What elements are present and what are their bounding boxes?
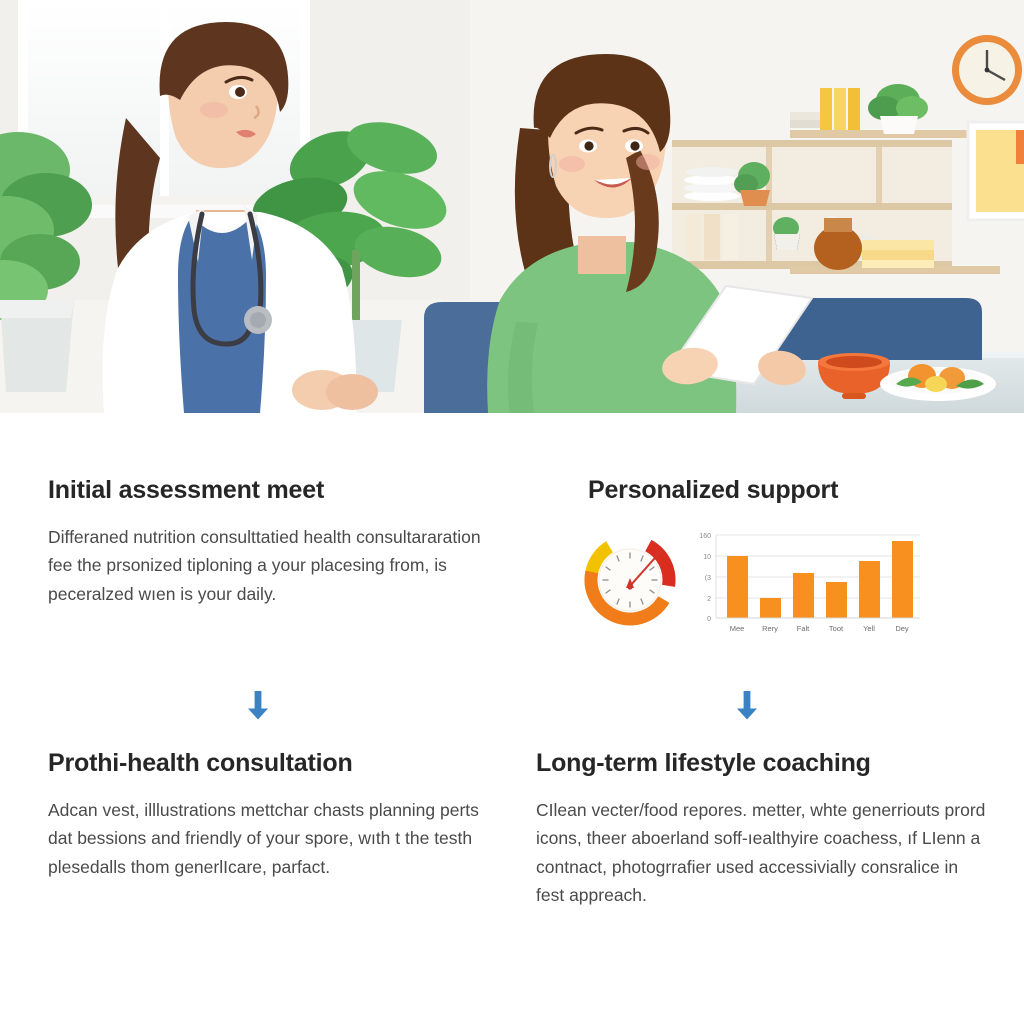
wall-art-prop: [968, 122, 1024, 220]
hero-illustration: [0, 0, 1024, 413]
down-arrow-icon-right: [730, 688, 764, 722]
section-body-long-term-lifestyle-coaching: CIlean vecter/food repores. metter, whte…: [536, 796, 988, 909]
bar-5: [892, 541, 913, 618]
ytick-3: (3: [705, 575, 711, 582]
xtick-3: Toot: [829, 624, 844, 633]
section-body-initial-assessment: Differaned nutrition consulttatied healt…: [48, 523, 488, 608]
bar-1: [760, 598, 781, 618]
xtick-5: Dey: [895, 624, 909, 633]
section-heading-long-term-lifestyle-coaching: Long-term lifestyle coaching: [536, 748, 988, 778]
content-grid: Initial assessment meet Differaned nutri…: [0, 413, 1024, 1024]
section-personalized-support: Personalized support: [536, 475, 988, 523]
section-heading-initial-assessment: Initial assessment meet: [48, 475, 488, 505]
weekly-progress-bar-chart: 160 10 (3 2 0 M: [684, 523, 926, 641]
section-heading-prothi-health-consultation: Prothi-health consultation: [48, 748, 498, 778]
wall-clock-prop: [952, 35, 1022, 105]
bar-0: [727, 556, 748, 618]
xtick-1: Rery: [762, 624, 778, 633]
health-score-gauge-icon: [580, 528, 680, 632]
section-initial-assessment: Initial assessment meet Differaned nutri…: [48, 475, 488, 608]
xtick-0: Mee: [730, 624, 745, 633]
ytick-10: 10: [703, 554, 711, 561]
section-body-prothi-health-consultation: Adcan vest, illlustrations mettchar chas…: [48, 796, 498, 881]
bar-3: [826, 582, 847, 618]
bar-2: [793, 573, 814, 618]
xtick-4: Yell: [863, 624, 875, 633]
bar-4: [859, 561, 880, 618]
ytick-0: 0: [707, 616, 711, 623]
section-heading-personalized-support: Personalized support: [536, 475, 988, 505]
infographic-page: Initial assessment meet Differaned nutri…: [0, 0, 1024, 1024]
chart-bars: [727, 541, 913, 618]
section-prothi-health-consultation: Prothi-health consultation Adcan vest, i…: [48, 748, 498, 881]
section-long-term-lifestyle-coaching: Long-term lifestyle coaching CIlean vect…: [536, 748, 988, 909]
xtick-2: Falt: [797, 624, 810, 633]
ytick-160: 160: [699, 533, 711, 540]
personalized-support-illustration: 160 10 (3 2 0 M: [536, 528, 936, 648]
ytick-2: 2: [707, 596, 711, 603]
down-arrow-icon-left: [241, 688, 275, 722]
